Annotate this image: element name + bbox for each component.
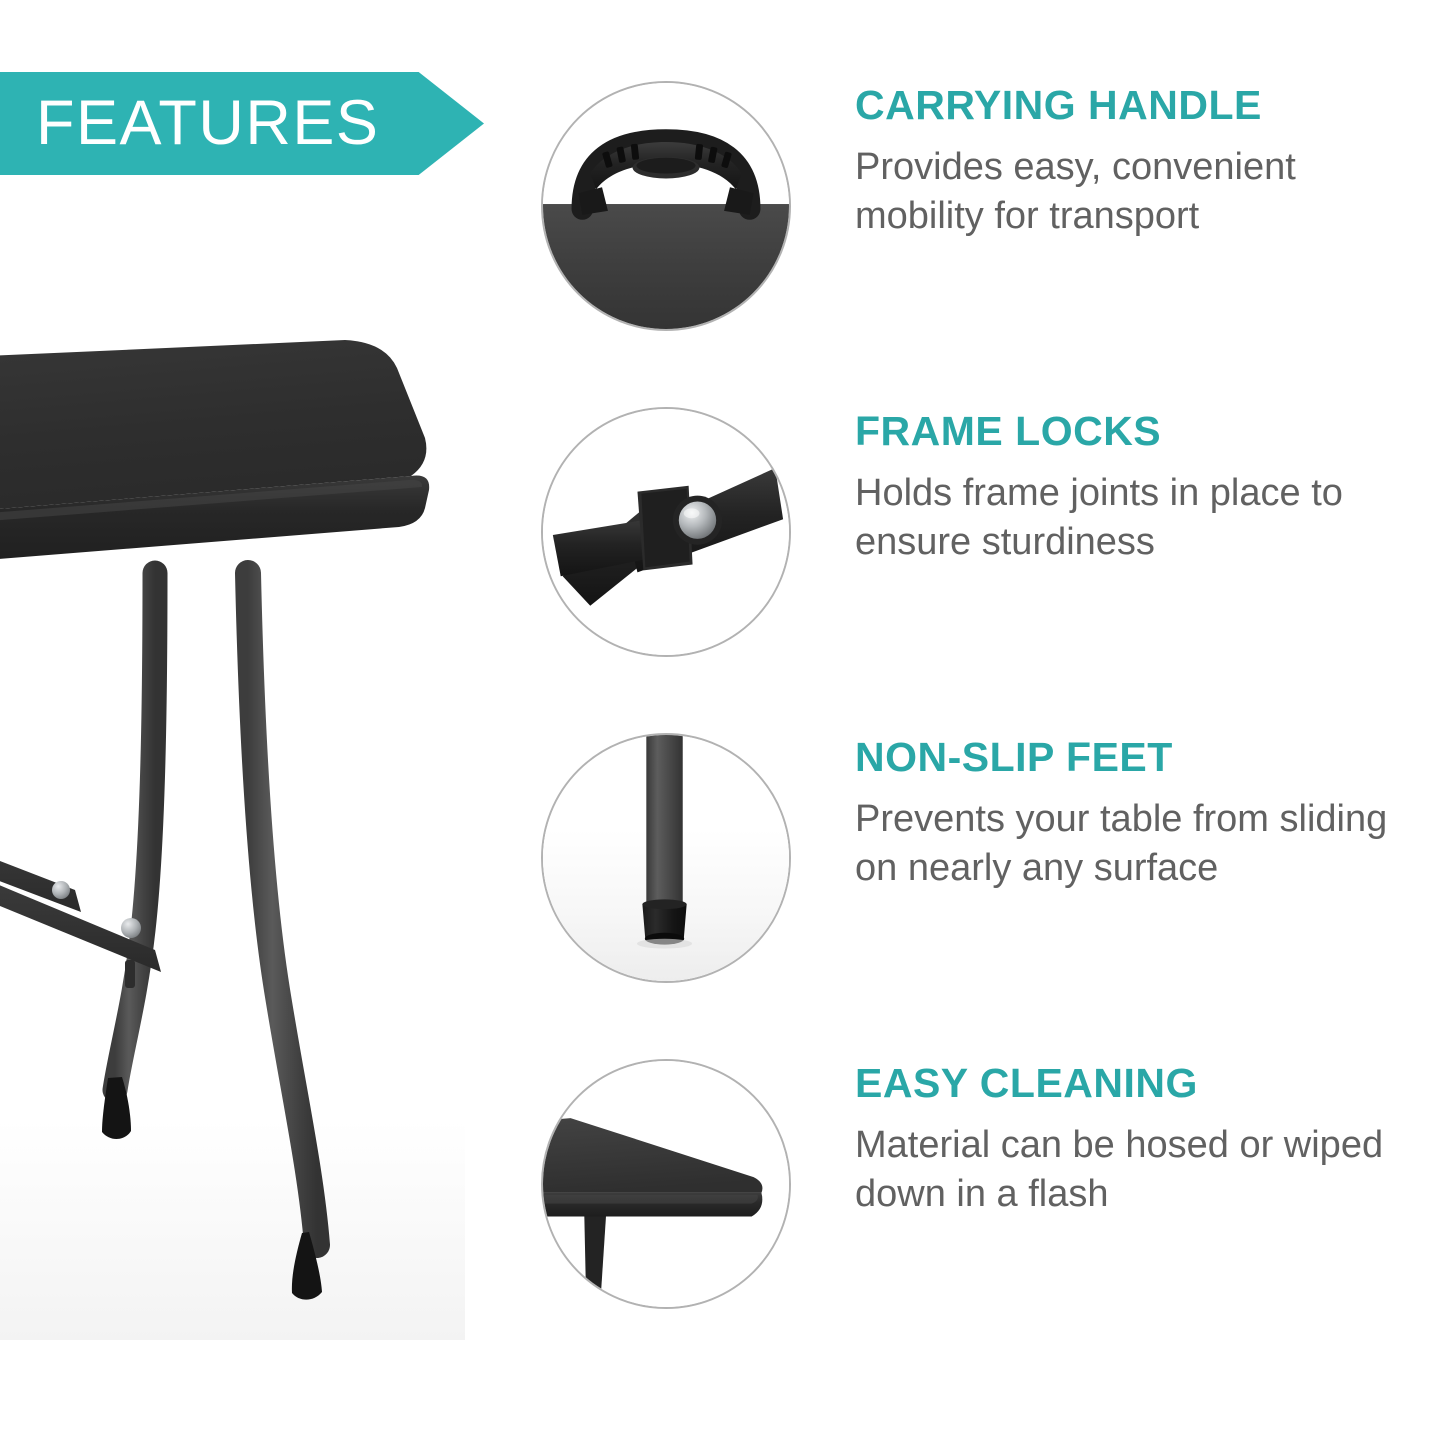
table-leg-front	[115, 573, 155, 1090]
feature-image-wrap-1	[530, 70, 802, 342]
features-infographic: FEATURES	[0, 0, 1445, 1445]
feature-row-non-slip-feet: NON-SLIP FEET Prevents your table from s…	[530, 714, 1430, 994]
feature-row-carrying-handle: CARRYING HANDLE Provides easy, convenien…	[530, 62, 1430, 342]
feature-row-easy-cleaning: EASY CLEANING Material can be hosed or w…	[530, 1040, 1430, 1320]
feature-row-frame-locks: FRAME LOCKS Holds frame joints in place …	[530, 388, 1430, 668]
product-photo-folding-table	[0, 330, 465, 1340]
brace-rivet-upper	[52, 881, 70, 899]
non-slip-foot-detail-icon	[541, 733, 791, 983]
carrying-handle-detail-icon	[541, 81, 791, 331]
table-leg-stub	[584, 1216, 606, 1307]
feature-desc-frame-locks: Holds frame joints in place to ensure st…	[855, 469, 1415, 566]
leg-tab	[125, 960, 135, 988]
feature-text-4: EASY CLEANING Material can be hosed or w…	[802, 1040, 1430, 1218]
table-leg-tube	[646, 735, 682, 912]
brace-rivet-leg	[121, 918, 141, 938]
feature-title-carrying-handle: CARRYING HANDLE	[855, 84, 1430, 127]
features-banner: FEATURES	[0, 72, 484, 175]
banner-title: FEATURES	[0, 72, 379, 175]
feature-image-wrap-4	[530, 1048, 802, 1320]
feature-text-3: NON-SLIP FEET Prevents your table from s…	[802, 714, 1430, 892]
lock-rivet	[679, 501, 716, 538]
table-body	[543, 204, 789, 329]
feature-text-1: CARRYING HANDLE Provides easy, convenien…	[802, 62, 1430, 240]
feature-image-wrap-3	[530, 722, 802, 994]
feature-image-wrap-2	[530, 396, 802, 668]
feature-desc-non-slip-feet: Prevents your table from sliding on near…	[855, 795, 1415, 892]
feature-desc-carrying-handle: Provides easy, convenient mobility for t…	[855, 143, 1415, 240]
feature-title-frame-locks: FRAME LOCKS	[855, 410, 1430, 453]
feature-title-easy-cleaning: EASY CLEANING	[855, 1062, 1430, 1105]
feature-title-non-slip-feet: NON-SLIP FEET	[855, 736, 1430, 779]
tabletop-edge-detail-icon	[541, 1059, 791, 1309]
feature-desc-easy-cleaning: Material can be hosed or wiped down in a…	[855, 1121, 1415, 1218]
frame-lock-detail-icon	[541, 407, 791, 657]
feature-text-2: FRAME LOCKS Holds frame joints in place …	[802, 388, 1430, 566]
